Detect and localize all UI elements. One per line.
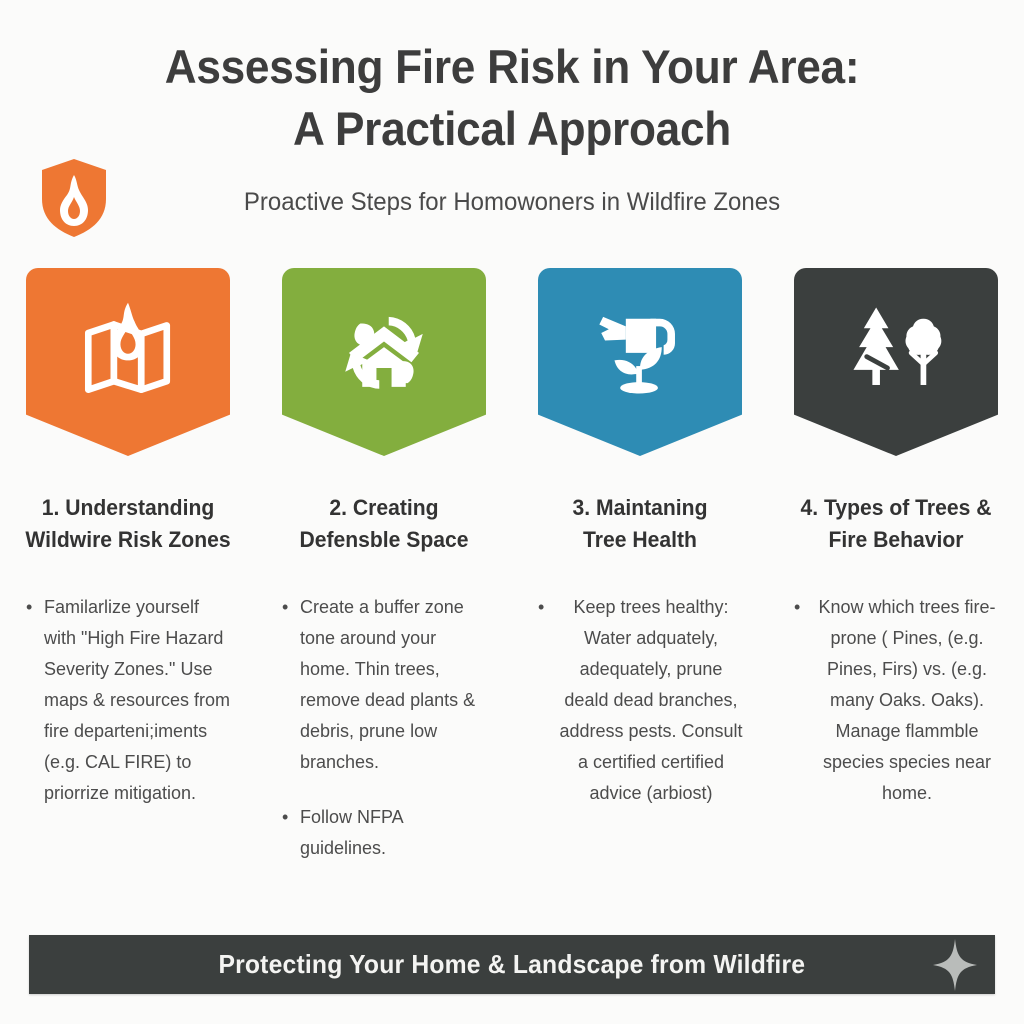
footer-tagline: Protecting Your Home & Landscape from Wi… — [219, 949, 806, 980]
footer-banner: Protecting Your Home & Landscape from Wi… — [29, 935, 995, 994]
step-column-4: 4. Types of Trees & Fire Behavior Know w… — [768, 268, 1024, 888]
step-3-badge-wrap — [512, 268, 768, 464]
home-recycle-leaves-icon — [332, 298, 436, 402]
step-column-3: 3. Maintaning Tree Health Keep trees hea… — [512, 268, 768, 888]
four-point-sparkle-icon — [933, 939, 977, 991]
step-2-bullets: Create a buffer zone tone around your ho… — [256, 592, 512, 864]
step-3-heading-line-1: 3. Maintaning — [531, 492, 750, 524]
step-3-heading: 3. Maintaning Tree Health — [517, 492, 763, 556]
page-subtitle: Proactive Steps for Homowoners in Wildfi… — [80, 185, 944, 219]
watering-can-sprout-icon — [588, 298, 692, 402]
step-1-badge — [26, 268, 230, 456]
fire-shield-icon — [38, 157, 110, 239]
infographic-poster: Assessing Fire Risk in Your Area: A Prac… — [0, 0, 1024, 1024]
step-1-bullets: Familarlize yourself with "High Fire Haz… — [0, 592, 256, 809]
step-1-heading-line-2: Wildwire Risk Zones — [19, 524, 238, 556]
step-4-badge-wrap — [768, 268, 1024, 464]
page-title: Assessing Fire Risk in Your Area: A Prac… — [62, 36, 962, 160]
page-title-line-1: Assessing Fire Risk in Your Area: — [89, 36, 935, 98]
step-4-heading: 4. Types of Trees & Fire Behavior — [773, 492, 1019, 556]
step-2-badge-wrap — [256, 268, 512, 464]
steps-row: 1. Understanding Wildwire Risk Zones Fam… — [0, 268, 1024, 888]
page-title-line-2: A Practical Approach — [89, 98, 935, 160]
step-3-heading-line-2: Tree Health — [531, 524, 750, 556]
step-2-heading: 2. Creating Defensble Space — [261, 492, 507, 556]
list-item: Create a buffer zone tone around your ho… — [282, 592, 490, 778]
header: Assessing Fire Risk in Your Area: A Prac… — [0, 0, 1024, 252]
step-4-heading-line-1: 4. Types of Trees & — [787, 492, 1006, 524]
step-column-2: 2. Creating Defensble Space Create a buf… — [256, 268, 512, 888]
map-flame-icon — [76, 298, 180, 402]
step-3-bullets: Keep trees healthy: Water adquately, ade… — [512, 592, 768, 809]
step-1-badge-wrap — [0, 268, 256, 464]
step-2-badge — [282, 268, 486, 456]
list-item: Keep trees healthy: Water adquately, ade… — [538, 592, 746, 809]
step-4-heading-line-2: Fire Behavior — [787, 524, 1006, 556]
step-4-badge — [794, 268, 998, 456]
step-1-heading: 1. Understanding Wildwire Risk Zones — [5, 492, 251, 556]
step-4-bullets: Know which trees fire-prone ( Pines, (e.… — [768, 592, 1024, 809]
step-3-badge — [538, 268, 742, 456]
pine-and-oak-trees-icon — [844, 298, 948, 402]
list-item: Follow NFPA guidelines. — [282, 802, 490, 864]
step-2-heading-line-1: 2. Creating — [275, 492, 494, 524]
list-item: Know which trees fire-prone ( Pines, (e.… — [794, 592, 1002, 809]
list-item: Familarlize yourself with "High Fire Haz… — [26, 592, 234, 809]
step-1-heading-line-1: 1. Understanding — [19, 492, 238, 524]
step-2-heading-line-2: Defensble Space — [275, 524, 494, 556]
step-column-1: 1. Understanding Wildwire Risk Zones Fam… — [0, 268, 256, 888]
